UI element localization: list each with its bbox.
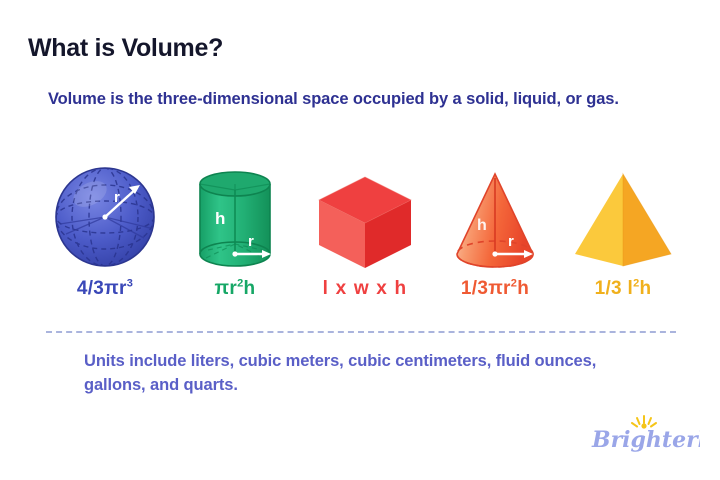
- shapes-row: r 4/3πr3: [40, 162, 688, 312]
- cylinder-radius-label: r: [248, 233, 254, 250]
- pyramid-formula-suffix: h: [640, 278, 652, 299]
- cone-formula-suffix: h: [517, 278, 529, 299]
- infographic-canvas: What is Volume? Volume is the three-dime…: [0, 0, 720, 480]
- intro-paragraph: Volume is the three-dimensional space oc…: [48, 88, 658, 111]
- pyramid-formula: 1/3 l2h: [558, 278, 688, 300]
- section-divider: [46, 331, 676, 333]
- cone-illustration: h r: [430, 162, 560, 280]
- cube-illustration: [300, 162, 430, 280]
- sphere-formula-exponent: 3: [127, 278, 133, 290]
- sphere-formula-base: 4/3πr: [77, 278, 127, 299]
- cylinder-formula: πr2h: [170, 278, 300, 300]
- cube-formula: l x w x h: [300, 278, 430, 300]
- shape-cell-cube: l x w x h: [300, 162, 430, 312]
- sphere-radius-label: r: [114, 189, 120, 206]
- cone-formula-base: 1/3πr: [461, 278, 511, 299]
- cylinder-formula-base: πr: [215, 278, 238, 299]
- cone-height-label: h: [477, 217, 487, 234]
- shape-cell-cone: h r 1/3πr2h: [430, 162, 560, 312]
- units-paragraph: Units include liters, cubic meters, cubi…: [84, 350, 644, 398]
- cylinder-illustration: h r: [170, 162, 300, 280]
- cone-formula: 1/3πr2h: [430, 278, 560, 300]
- logo-wordmark: Brighterly: [591, 427, 700, 453]
- shape-cell-cylinder: h r πr2h: [170, 162, 300, 312]
- pyramid-formula-base: 1/3 l: [595, 278, 633, 299]
- shape-cell-pyramid: 1/3 l2h: [558, 162, 688, 312]
- brighterly-logo: Brighterly: [588, 414, 700, 458]
- sphere-formula: 4/3πr3: [40, 278, 170, 300]
- cylinder-height-label: h: [215, 209, 225, 228]
- cone-radius-label: r: [508, 233, 514, 250]
- cylinder-formula-suffix: h: [244, 278, 256, 299]
- page-title: What is Volume?: [28, 34, 223, 63]
- shape-cell-sphere: r 4/3πr3: [40, 162, 170, 312]
- pyramid-illustration: [558, 162, 688, 280]
- sphere-illustration: r: [40, 162, 170, 280]
